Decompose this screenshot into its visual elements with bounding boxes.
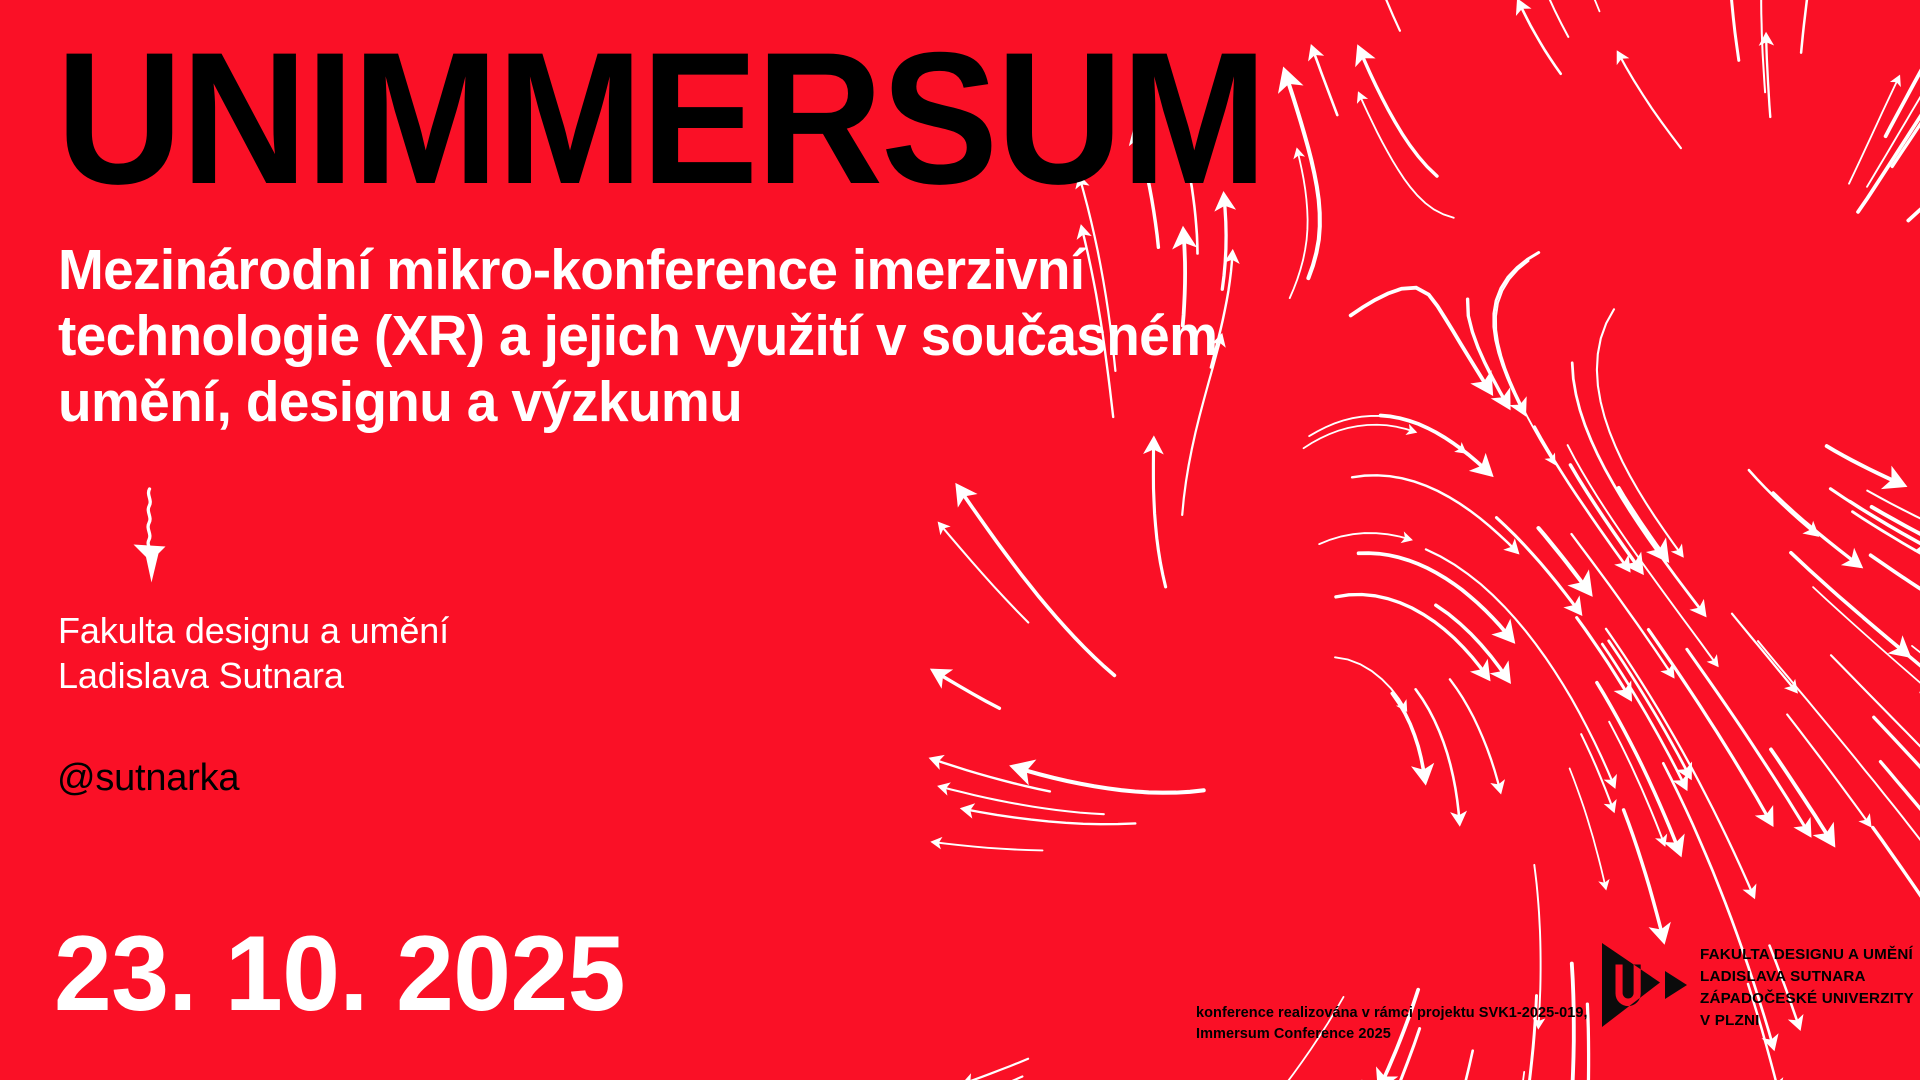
logo-text-line-4: V PLZNI [1700,1010,1914,1032]
field-arrow [1352,475,1517,552]
field-arrow [1577,618,1630,699]
field-arrow [1312,47,1337,115]
field-arrow [963,809,1136,824]
social-handle[interactable]: @sutnarka [57,759,239,797]
field-arrow [931,759,1050,792]
field-arrow [1609,722,1664,845]
field-arrow [1572,534,1674,676]
field-arrow [1827,446,1904,485]
field-arrow [1732,614,1796,692]
field-arrow [941,1077,1023,1080]
field-arrow [1864,618,1920,727]
field-arrow [1290,150,1308,299]
field-arrow [1850,501,1920,577]
page-title: UNIMMERSUM [56,32,1265,205]
field-arrow [1618,53,1681,149]
field-arrow [1871,555,1920,635]
fineprint-line-2: Immersum Conference 2025 [1196,1024,1588,1045]
fineprint-note: konference realizována v rámci projektu … [1196,1003,1588,1044]
field-arrow [1496,261,1554,463]
field-arrow [1436,605,1509,680]
field-arrow [1426,549,1615,786]
field-arrow [1830,489,1920,550]
field-arrow [1912,646,1920,710]
field-arrow [1766,35,1770,118]
field-arrow [1359,93,1454,218]
field-arrow [1606,629,1754,897]
field-arrow [1749,470,1817,535]
field-arrow [1687,649,1810,834]
logo-text-line-3: ZÁPADOČESKÉ UNIVERZITY [1700,988,1914,1010]
field-arrow [933,671,999,709]
field-arrow [1624,810,1664,941]
field-arrow [1539,528,1590,593]
field-arrow [1457,1051,1472,1080]
faculty-line-1: Fakulta designu a umění [58,608,449,653]
field-arrow [1351,288,1491,392]
field-arrow [1609,641,1691,778]
field-arrow [1867,27,1920,187]
field-arrow [1874,717,1920,847]
field-arrow [1304,425,1416,449]
field-arrow [1153,439,1165,587]
field-arrow [1872,507,1920,572]
field-arrow [1849,77,1899,184]
faculty-line-2: Ladislava Sutnara [58,653,449,698]
field-arrow [1468,299,1509,407]
subtitle-line-1: Mezinárodní mikro-konference imerzivní [58,238,1217,304]
field-arrow [1569,0,1600,11]
sutnarka-logo-mark [1602,940,1688,1030]
field-arrow [1581,734,1614,811]
logo-text-line-2: LADISLAVA SUTNARA [1700,966,1914,988]
field-arrow [1014,767,1204,793]
field-arrow [1728,0,1739,60]
field-arrow [1359,48,1437,176]
field-arrow [1535,427,1629,570]
field-arrow [1597,683,1680,854]
field-arrow [1336,595,1488,679]
field-arrow [1309,416,1465,453]
down-arrow-icon [122,487,178,587]
field-arrow [1597,309,1682,555]
field-arrow [1416,689,1460,823]
subtitle: Mezinárodní mikro-konference imerzivní t… [58,238,1217,435]
subtitle-line-3: umění, designu a výzkumu [58,370,1217,436]
field-arrow [1570,768,1606,888]
field-arrow [1497,518,1581,614]
fineprint-line-1: konference realizována v rámci projektu … [1196,1003,1588,1024]
field-arrow [1570,465,1641,572]
field-arrow [1892,19,1920,166]
field-arrow [1450,679,1501,792]
field-arrow [1886,12,1920,136]
logo-text: FAKULTA DESIGNU A UMĚNÍ LADISLAVA SUTNAR… [1700,940,1914,1032]
field-arrow [1867,491,1920,540]
field-arrow [1518,1,1560,74]
field-arrow [1813,587,1920,752]
field-arrow [939,523,1028,622]
logo-text-line-1: FAKULTA DESIGNU A UMĚNÍ [1700,944,1914,966]
field-arrow [1494,253,1539,414]
field-arrow [940,787,1104,815]
subtitle-line-2: technologie (XR) a jejich využití v souč… [58,304,1217,370]
field-arrow [1787,715,1870,826]
field-arrow [1572,363,1704,615]
field-arrow [1908,141,1920,221]
field-arrow [964,1059,1029,1080]
field-arrow [958,487,1115,676]
event-date: 23. 10. 2025 [54,920,625,1027]
field-arrow [1649,630,1772,824]
field-arrow [1285,71,1320,278]
field-arrow [1381,416,1491,475]
field-arrow [1791,553,1908,656]
field-arrow [1881,762,1920,901]
field-arrow [1831,655,1920,802]
field-arrow [1602,644,1686,788]
field-arrow [1518,1072,1525,1080]
field-arrow [1523,0,1568,37]
field-arrow [1568,445,1718,665]
field-arrow [1319,533,1411,544]
field-arrow [1858,33,1920,212]
field-arrow [1801,0,1819,53]
field-arrow [1771,749,1833,843]
field-arrow [1853,512,1920,597]
field-arrow [1359,553,1513,640]
field-arrow [1335,657,1406,710]
field-arrow [1773,493,1860,566]
field-arrow [1392,693,1425,781]
field-arrow [1761,0,1765,92]
field-arrow [1758,641,1920,855]
field-arrow [933,842,1043,850]
field-arrow [1358,0,1400,31]
poster-canvas: UNIMMERSUM Mezinárodní mikro-konference … [0,0,1920,1080]
faculty-block: Fakulta designu a umění Ladislava Sutnar… [58,608,449,699]
field-arrow [1619,488,1667,559]
faculty-logo-lockup: FAKULTA DESIGNU A UMĚNÍ LADISLAVA SUTNAR… [1602,940,1914,1032]
